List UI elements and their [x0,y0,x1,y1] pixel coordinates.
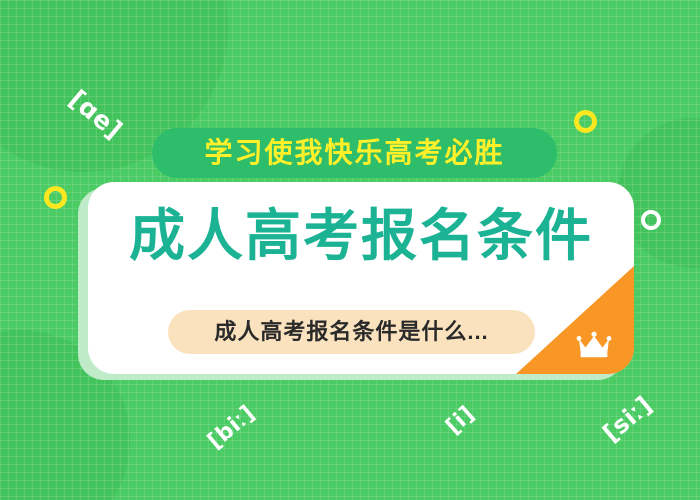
subtitle-text: 成人高考报名条件是什么... [214,321,488,343]
slogan-banner: 学习使我快乐高考必胜 [152,128,557,178]
main-card: 成人高考报名条件 成人高考报名条件是什么... [88,182,634,374]
phonetic-bottom-left: [biː] [203,401,260,454]
ring-yellow-right-icon [574,110,597,133]
ring-white-right-icon [641,210,661,230]
ring-yellow-left-icon [44,186,67,209]
slogan-banner-text: 学习使我快乐高考必胜 [204,139,504,167]
phonetic-bottom-center: [i] [441,401,479,439]
page-title: 成人高考报名条件 [88,208,634,267]
phonetic-bottom-right: [siː] [597,391,657,448]
subtitle-pill: 成人高考报名条件是什么... [168,310,535,354]
corner-wedge [516,266,634,374]
crown-icon [576,331,612,358]
poster-canvas: [ɑe] [biː] [i] [siː] 学习使我快乐高考必胜 成人高考报名条件… [0,0,700,500]
